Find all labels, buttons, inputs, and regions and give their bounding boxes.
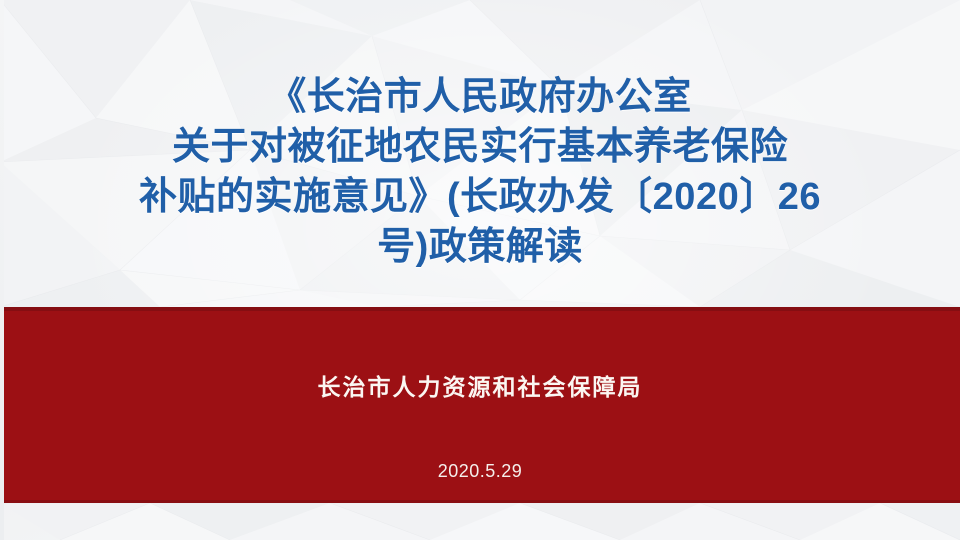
banner-bottom-edge — [0, 500, 960, 503]
title-line-2: 关于对被征地农民实行基本养老保险 — [0, 122, 960, 172]
title-line-1: 《长治市人民政府办公室 — [0, 72, 960, 122]
presentation-date: 2020.5.29 — [0, 459, 960, 483]
banner-top-edge — [0, 307, 960, 311]
left-margin-strip — [0, 0, 4, 540]
red-banner: 长治市人力资源和社会保障局 2020.5.29 — [0, 307, 960, 503]
slide-title: 《长治市人民政府办公室 关于对被征地农民实行基本养老保险 补贴的实施意见》(长政… — [0, 72, 960, 272]
title-line-4: 号)政策解读 — [0, 222, 960, 272]
organization-name: 长治市人力资源和社会保障局 — [0, 373, 960, 403]
presentation-title-slide: 《长治市人民政府办公室 关于对被征地农民实行基本养老保险 补贴的实施意见》(长政… — [0, 0, 960, 540]
title-line-3: 补贴的实施意见》(长政办发〔2020〕26 — [0, 172, 960, 222]
